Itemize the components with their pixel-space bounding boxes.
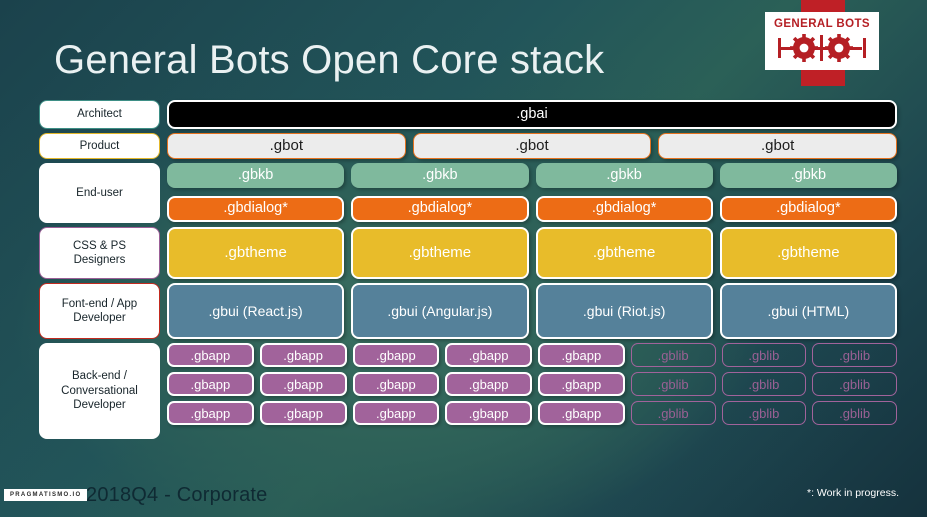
cell-gblib[interactable]: .gblib	[631, 343, 716, 367]
stack-row-designers: CSS & PS Designers .gbtheme .gbtheme .gb…	[0, 227, 927, 279]
stack-row-backend: Back-end / Conversational Developer .gba…	[0, 343, 927, 439]
module-grid: .gbapp .gbapp .gbapp .gbapp .gbapp .gbli…	[167, 343, 927, 439]
rail-label-line: Font-end / App	[62, 297, 137, 311]
cell-gbkb[interactable]: .gbkb	[536, 163, 713, 188]
module-grid-row: .gbapp .gbapp .gbapp .gbapp .gbapp .gbli…	[167, 343, 897, 367]
cell-gbui-riot[interactable]: .gbui (Riot.js)	[536, 283, 713, 339]
cell-gbapp[interactable]: .gbapp	[353, 372, 440, 396]
cell-gbtheme[interactable]: .gbtheme	[351, 227, 528, 279]
cell-gbtheme[interactable]: .gbtheme	[720, 227, 897, 279]
cell-gbapp[interactable]: .gbapp	[167, 343, 254, 367]
row-cells-gbdialog: .gbdialog* .gbdialog* .gbdialog* .gbdial…	[167, 196, 927, 224]
general-bots-logo: GENERAL BOTS	[765, 0, 879, 86]
rail-label-line: Back-end /	[72, 369, 127, 383]
page-title: General Bots Open Core stack	[54, 38, 604, 83]
cell-gbdialog[interactable]: .gbdialog*	[536, 196, 713, 222]
cell-gbtheme[interactable]: .gbtheme	[167, 227, 344, 279]
cell-gblib[interactable]: .gblib	[631, 401, 716, 425]
cell-gblib[interactable]: .gblib	[631, 372, 716, 396]
stack-row-product: Product .gbot .gbot .gbot	[0, 133, 927, 159]
cell-gbot[interactable]: .gbot	[658, 133, 897, 159]
cell-gblib[interactable]: .gblib	[812, 343, 897, 367]
cell-gbapp[interactable]: .gbapp	[353, 343, 440, 367]
cell-gblib[interactable]: .gblib	[722, 401, 807, 425]
cell-gbapp[interactable]: .gbapp	[167, 372, 254, 396]
cell-gbapp[interactable]: .gbapp	[445, 401, 532, 425]
rail-label-backend: Back-end / Conversational Developer	[39, 343, 160, 439]
rail-label-designers: CSS & PS Designers	[39, 227, 160, 279]
cell-gbkb[interactable]: .gbkb	[720, 163, 897, 188]
cell-gbapp[interactable]: .gbapp	[353, 401, 440, 425]
rail-product: Product	[39, 133, 160, 159]
cell-gblib[interactable]: .gblib	[812, 401, 897, 425]
row-cells-gbtheme: .gbtheme .gbtheme .gbtheme .gbtheme	[167, 227, 927, 279]
pragmatismo-badge: PRAGMATISMO.IO	[4, 489, 87, 501]
cell-gbapp[interactable]: .gbapp	[538, 401, 625, 425]
cell-gbdialog[interactable]: .gbdialog*	[351, 196, 528, 222]
stack-diagram: Architect .gbai Product .gbot .gbot .gbo…	[0, 100, 927, 443]
rail-label-line: CSS & PS	[73, 239, 126, 253]
row-cells-gbui: .gbui (React.js) .gbui (Angular.js) .gbu…	[167, 283, 927, 339]
cell-gbot[interactable]: .gbot	[167, 133, 406, 159]
rail-label-end-user: End-user	[39, 163, 160, 223]
rail-end-user: End-user	[39, 163, 160, 223]
cell-gbdialog[interactable]: .gbdialog*	[167, 196, 344, 222]
slide-canvas: GENERAL BOTS	[0, 0, 927, 517]
cell-gbui-angular[interactable]: .gbui (Angular.js)	[351, 283, 528, 339]
row-cells-end-user: .gbkb .gbkb .gbkb .gbkb .gbdialog* .gbdi…	[167, 163, 927, 223]
module-grid-row: .gbapp .gbapp .gbapp .gbapp .gbapp .gbli…	[167, 401, 897, 425]
rail-label-frontend: Font-end / App Developer	[39, 283, 160, 339]
cell-gbapp[interactable]: .gbapp	[260, 401, 347, 425]
row-cells-gbai: .gbai	[167, 100, 927, 129]
stack-row-architect: Architect .gbai	[0, 100, 927, 129]
rail-designers: CSS & PS Designers	[39, 227, 160, 279]
rail-architect: Architect	[39, 100, 160, 129]
cell-gbai[interactable]: .gbai	[167, 100, 897, 129]
cell-gbapp[interactable]: .gbapp	[445, 372, 532, 396]
cell-gbtheme[interactable]: .gbtheme	[536, 227, 713, 279]
rail-backend: Back-end / Conversational Developer	[39, 343, 160, 439]
cell-gbui-react[interactable]: .gbui (React.js)	[167, 283, 344, 339]
cell-gbkb[interactable]: .gbkb	[351, 163, 528, 188]
rail-label-line: Developer	[73, 398, 125, 412]
slide-footer: PRAGMATISMO.IO 2018Q4 - Corporate *: Wor…	[0, 483, 927, 517]
rail-label-architect: Architect	[39, 100, 160, 129]
cell-gbapp[interactable]: .gbapp	[260, 372, 347, 396]
cell-gblib[interactable]: .gblib	[722, 343, 807, 367]
logo-card: GENERAL BOTS	[765, 12, 879, 70]
cell-gbot[interactable]: .gbot	[413, 133, 652, 159]
cell-gbapp[interactable]: .gbapp	[538, 372, 625, 396]
rail-frontend: Font-end / App Developer	[39, 283, 160, 339]
rail-label-line: Developer	[73, 311, 125, 325]
rail-label-product: Product	[39, 133, 160, 159]
cell-gbapp[interactable]: .gbapp	[260, 343, 347, 367]
rail-label-line: Conversational	[61, 384, 138, 398]
logo-wordmark: GENERAL BOTS	[774, 19, 870, 31]
cell-gbdialog[interactable]: .gbdialog*	[720, 196, 897, 222]
cell-gblib[interactable]: .gblib	[812, 372, 897, 396]
row-cells-gbkb: .gbkb .gbkb .gbkb .gbkb	[167, 163, 927, 191]
row-cells-gbot: .gbot .gbot .gbot	[167, 133, 927, 159]
gears-icon	[776, 33, 868, 63]
cell-gbapp[interactable]: .gbapp	[167, 401, 254, 425]
footer-caption: 2018Q4 - Corporate	[86, 484, 267, 507]
cell-gbkb[interactable]: .gbkb	[167, 163, 344, 188]
cell-gbui-html[interactable]: .gbui (HTML)	[720, 283, 897, 339]
module-grid-row: .gbapp .gbapp .gbapp .gbapp .gbapp .gbli…	[167, 372, 897, 396]
cell-gbapp[interactable]: .gbapp	[445, 343, 532, 367]
cell-gblib[interactable]: .gblib	[722, 372, 807, 396]
stack-row-end-user: End-user .gbkb .gbkb .gbkb .gbkb .gbdial…	[0, 163, 927, 223]
stack-row-frontend: Font-end / App Developer .gbui (React.js…	[0, 283, 927, 339]
cell-gbapp[interactable]: .gbapp	[538, 343, 625, 367]
footnote-work-in-progress: *: Work in progress.	[807, 487, 899, 499]
rail-label-line: Designers	[74, 253, 126, 267]
